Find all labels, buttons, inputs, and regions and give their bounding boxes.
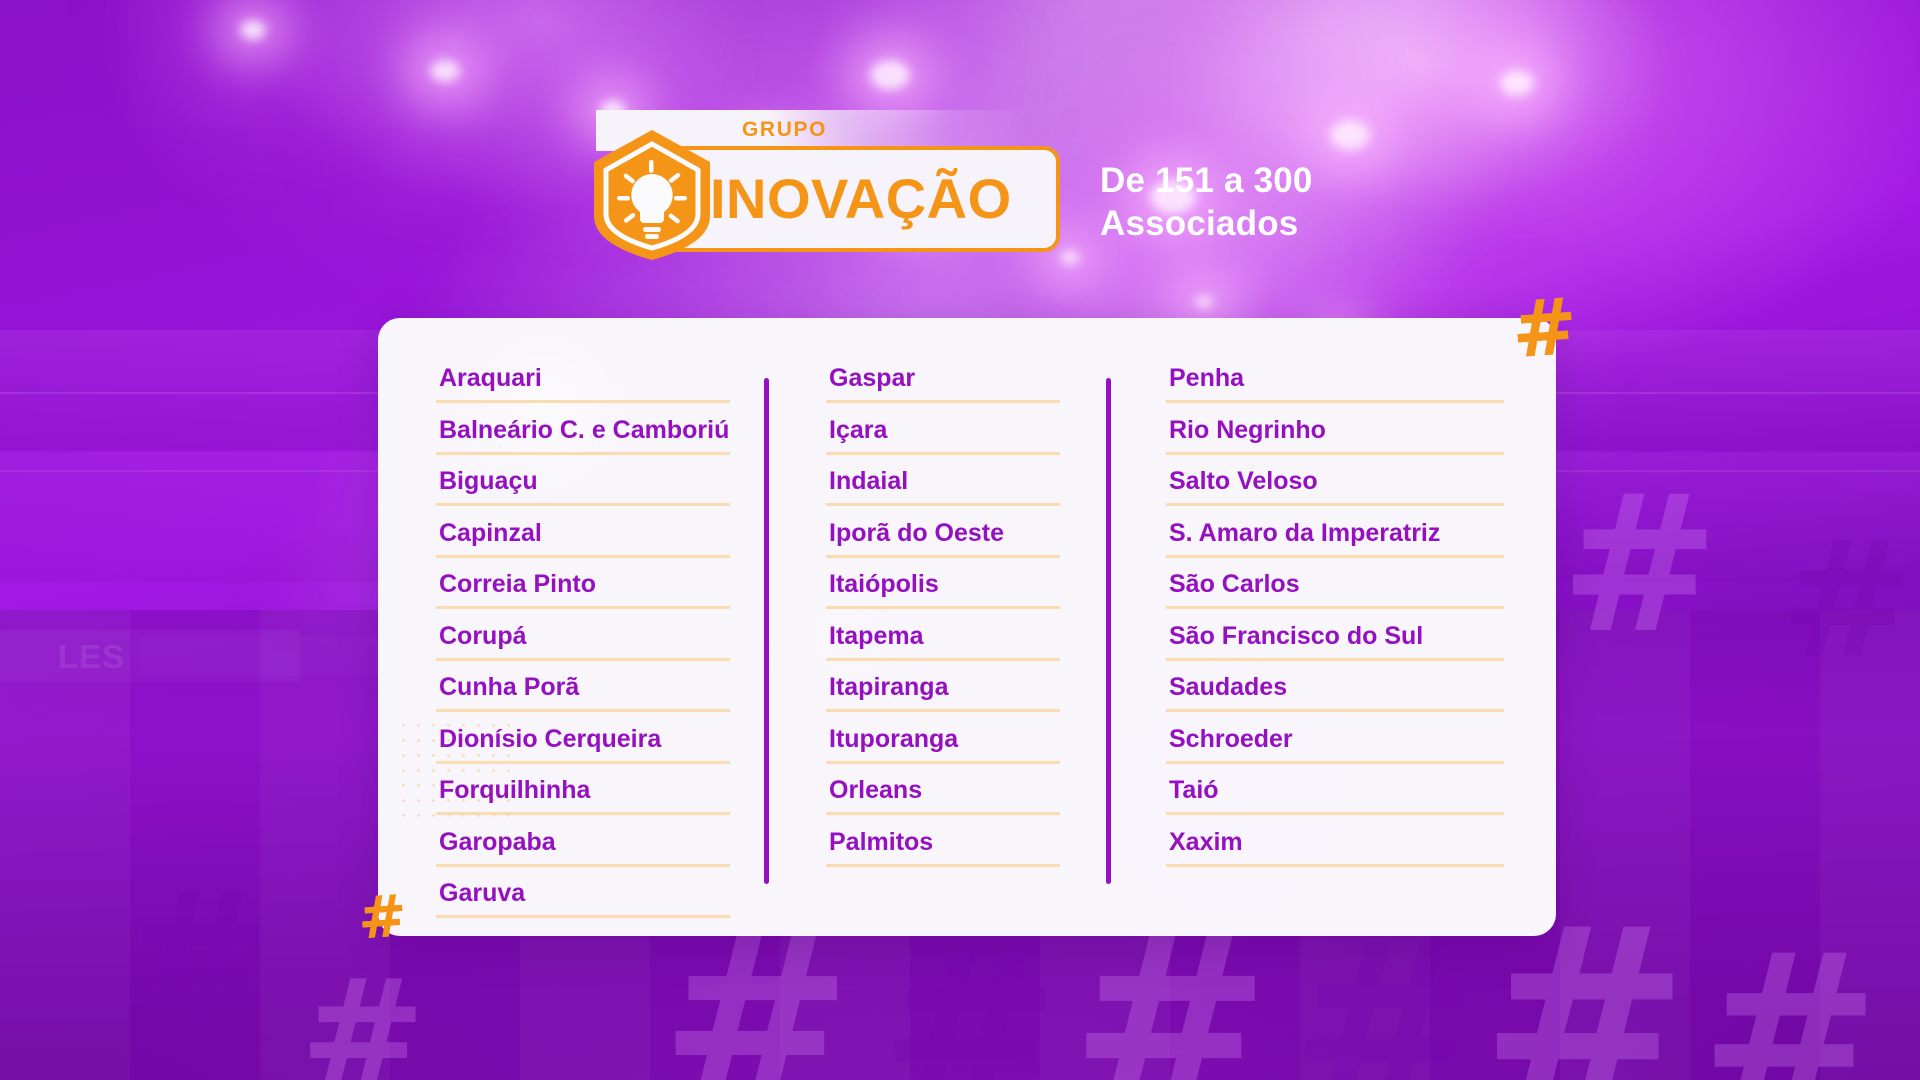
city-item: Cunha Porã: [436, 675, 730, 712]
column-divider: [1106, 378, 1111, 884]
city-item: Schroeder: [1166, 727, 1504, 764]
city-item: Rio Negrinho: [1166, 418, 1504, 455]
cities-card: AraquariBalneário C. e CamboriúBiguaçuCa…: [378, 318, 1556, 936]
city-item: Dionísio Cerqueira: [436, 727, 730, 764]
city-item: Ituporanga: [826, 727, 1060, 764]
city-item: Xaxim: [1166, 830, 1504, 867]
city-item: S. Amaro da Imperatriz: [1166, 521, 1504, 558]
column-divider: [764, 378, 769, 884]
cities-columns: AraquariBalneário C. e CamboriúBiguaçuCa…: [378, 318, 1556, 936]
city-item: Indaial: [826, 469, 1060, 506]
poster-stage: LES ########### GRUPO INOVAÇÃO: [0, 0, 1920, 1080]
city-item: Itaiópolis: [826, 572, 1060, 609]
associates-line-1: De 151 a 300: [1100, 160, 1313, 203]
city-item: Penha: [1166, 366, 1504, 403]
pitch-stripe: [0, 610, 130, 1080]
hashtag-icon-bottom-left: #: [356, 886, 409, 947]
floodlight: [1195, 295, 1213, 309]
hashtag-watermark: #: [120, 870, 271, 1050]
city-item: Itapiranga: [826, 675, 1060, 712]
city-item: Iporã do Oeste: [826, 521, 1060, 558]
city-item: São Carlos: [1166, 572, 1504, 609]
banner-label: GRUPO: [742, 118, 827, 142]
city-item: Salto Veloso: [1166, 469, 1504, 506]
city-item: Gaspar: [826, 366, 1060, 403]
group-name: INOVAÇÃO: [710, 171, 1012, 227]
city-item: Orleans: [826, 778, 1060, 815]
hashtag-watermark: #: [1560, 470, 1719, 660]
city-item: Correia Pinto: [436, 572, 730, 609]
hashtag-icon-top-right: #: [1509, 288, 1580, 370]
hashtag-watermark: #: [1290, 915, 1479, 1080]
column-2: GasparIçaraIndaialIporã do OesteItaiópol…: [770, 366, 1110, 936]
city-item: Garopaba: [436, 830, 730, 867]
city-item: Corupá: [436, 624, 730, 661]
column-1: AraquariBalneário C. e CamboriúBiguaçuCa…: [378, 366, 770, 936]
hashtag-watermark: #: [300, 960, 426, 1080]
city-item: Garuva: [436, 881, 730, 918]
associates-line-2: Associados: [1100, 203, 1313, 246]
city-item: Capinzal: [436, 521, 730, 558]
lightbulb-shield-icon: [590, 128, 714, 262]
city-item: Itapema: [826, 624, 1060, 661]
city-item: Biguaçu: [436, 469, 730, 506]
city-item: Palmitos: [826, 830, 1060, 867]
column-3: PenhaRio NegrinhoSalto VelosoS. Amaro da…: [1110, 366, 1556, 936]
city-item: Içara: [826, 418, 1060, 455]
hashtag-watermark: #: [1780, 520, 1914, 680]
hashtag-watermark: #: [880, 920, 1060, 1080]
header-group: GRUPO INOVAÇÃO: [0, 0, 1920, 260]
associates-range: De 151 a 300 Associados: [1100, 160, 1313, 245]
hashtag-watermark: #: [1700, 925, 1880, 1080]
city-item: Saudades: [1166, 675, 1504, 712]
city-item: Balneário C. e Camboriú: [436, 418, 730, 455]
city-item: Forquilhinha: [436, 778, 730, 815]
city-item: Araquari: [436, 366, 730, 403]
city-item: Taió: [1166, 778, 1504, 815]
city-item: São Francisco do Sul: [1166, 624, 1504, 661]
